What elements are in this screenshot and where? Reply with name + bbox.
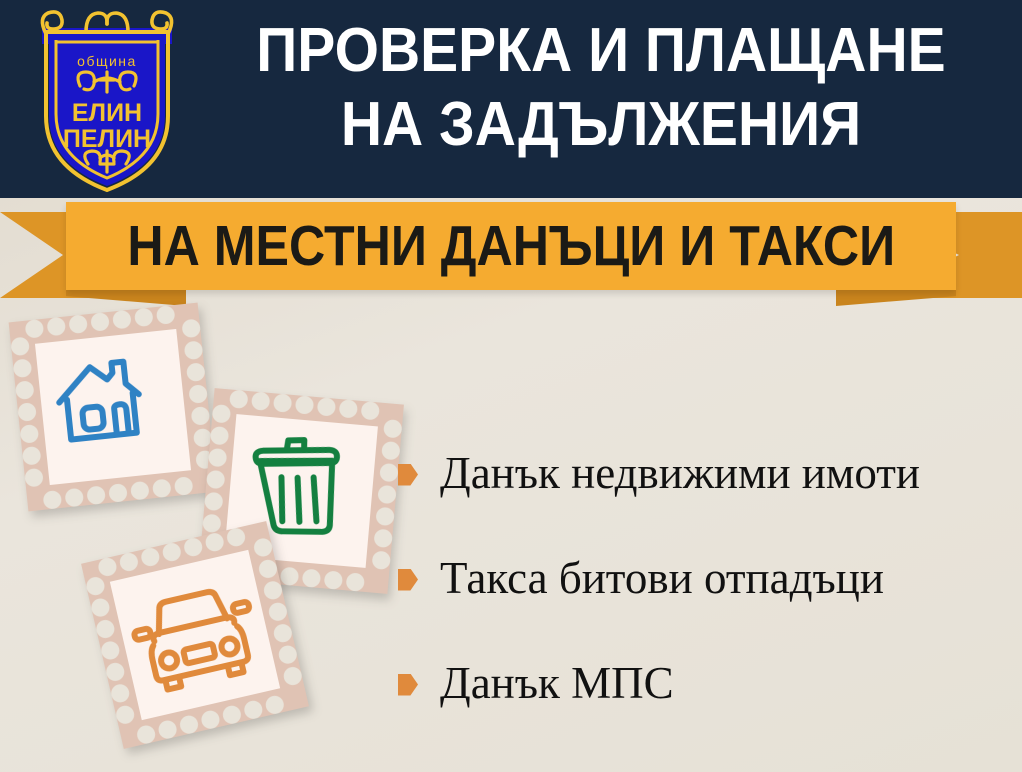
list-item[interactable]: Данък недвижими имоти [398, 420, 1008, 525]
list-item-label: Данък недвижими имоти [440, 449, 920, 497]
header-title-line-1: ПРОВЕРКА И ПЛАЩАНЕ [228, 14, 973, 88]
stamp-property-tax [9, 303, 218, 512]
municipality-crest-logo: община ЕЛИН ПЕЛИН [22, 4, 192, 194]
arrow-bullet-icon [398, 674, 418, 696]
crest-top-label: община [77, 53, 137, 69]
crest-name-line1: ЕЛИН [72, 99, 142, 127]
list-item-label: Данък МПС [440, 659, 674, 707]
list-item[interactable]: Данък МПС [398, 630, 1008, 735]
subtitle-ribbon: НА МЕСТНИ ДАНЪЦИ И ТАКСИ [0, 198, 1022, 308]
header-title-line-2: НА ЗАДЪЛЖЕНИЯ [228, 88, 973, 162]
ribbon-text: НА МЕСТНИ ДАНЪЦИ И ТАКСИ [127, 217, 895, 275]
obligations-list: Данък недвижими имоти Такса битови отпад… [398, 420, 1008, 735]
ribbon-main-panel: НА МЕСТНИ ДАНЪЦИ И ТАКСИ [66, 202, 956, 290]
header-banner: община ЕЛИН ПЕЛИН [0, 0, 1022, 198]
arrow-bullet-icon [398, 569, 418, 591]
list-item-label: Такса битови отпадъци [440, 554, 884, 602]
crest-svg: община ЕЛИН ПЕЛИН [22, 4, 192, 194]
stamp-border-house [9, 303, 218, 512]
crest-name-line2: ПЕЛИН [63, 125, 151, 153]
list-item[interactable]: Такса битови отпадъци [398, 525, 1008, 630]
poster-canvas: община ЕЛИН ПЕЛИН [0, 0, 1022, 772]
header-title-block: ПРОВЕРКА И ПЛАЩАНЕ НА ЗАДЪЛЖЕНИЯ [196, 14, 1006, 162]
arrow-bullet-icon [398, 464, 418, 486]
